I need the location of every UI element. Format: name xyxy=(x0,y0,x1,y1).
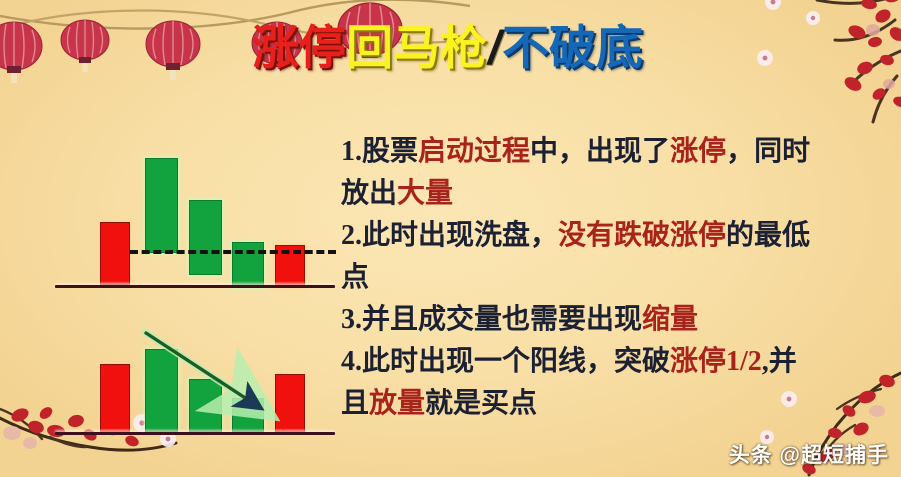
shrink-volume-arrow xyxy=(46,330,346,445)
line5-seg1: 3.并且成交量也需要出现 xyxy=(341,304,642,335)
blossom-flower-dots xyxy=(757,0,820,66)
instruction-line-5: 3.并且成交量也需要出现缩量 xyxy=(341,299,893,341)
line6-seg2: 涨停1/2 xyxy=(670,346,762,377)
line1-seg6: ，同时 xyxy=(726,136,810,167)
instruction-list: 1.股票启动过程中，出现了涨停，同时 放出大量 2.此时出现洗盘，没有跌破涨停的… xyxy=(341,131,893,425)
line1-seg3: 中， xyxy=(530,136,586,167)
line3-seg1: 2.此时出现洗盘， xyxy=(341,220,558,251)
plum-blossom-branch-top-right xyxy=(697,0,901,140)
line6-seg1: 4.此时出现一个阳线，突破 xyxy=(341,346,670,377)
line3-seg2: 没有跌破涨停 xyxy=(558,220,726,251)
support-dashed-line xyxy=(130,250,336,254)
line6-seg3: ,并 xyxy=(762,346,797,377)
price-candle-diagram xyxy=(46,140,346,295)
line4-seg1: 点 xyxy=(341,262,369,293)
volume-baseline xyxy=(55,432,335,435)
line1-seg2: 启动过程 xyxy=(418,136,530,167)
candle-bar-3 xyxy=(189,200,222,275)
candle-bar-4 xyxy=(232,242,264,288)
instruction-line-1: 1.股票启动过程中，出现了涨停，同时 xyxy=(341,131,893,173)
instruction-line-7: 且放量就是买点 xyxy=(341,383,893,425)
title-segment-slash: / xyxy=(487,24,502,71)
line1-seg4: 出现了 xyxy=(586,136,670,167)
instruction-line-2: 放出大量 xyxy=(341,173,893,215)
line7-seg3: 就是买点 xyxy=(425,388,537,419)
line2-seg1: 放出 xyxy=(341,178,397,209)
instruction-line-3: 2.此时出现洗盘，没有跌破涨停的最低 xyxy=(341,215,893,257)
volume-diagram xyxy=(46,330,346,445)
title-segment-yellow: 回马枪 xyxy=(346,24,487,71)
title-segment-blue: 不破底 xyxy=(502,24,643,71)
slide-canvas: 涨停回马枪/不破底 xyxy=(0,0,901,477)
line3-seg4: 最低 xyxy=(754,220,810,251)
line3-seg3: 的 xyxy=(726,220,754,251)
price-baseline xyxy=(55,285,335,288)
line7-seg2: 放量 xyxy=(369,388,425,419)
line1-seg1: 1.股票 xyxy=(341,136,418,167)
candle-bar-2 xyxy=(145,158,178,253)
watermark: 头条 @超短捕手 xyxy=(729,439,889,469)
line7-seg1: 且 xyxy=(341,388,369,419)
line5-seg2: 缩量 xyxy=(642,304,698,335)
line1-seg5: 涨停 xyxy=(670,136,726,167)
title-segment-red: 涨停 xyxy=(252,24,346,71)
instruction-line-6: 4.此时出现一个阳线，突破涨停1/2,并 xyxy=(341,341,893,383)
line2-seg2: 大量 xyxy=(397,178,453,209)
page-title: 涨停回马枪/不破底 xyxy=(252,24,643,71)
instruction-line-4: 点 xyxy=(341,257,893,299)
candle-bar-1 xyxy=(100,222,130,285)
